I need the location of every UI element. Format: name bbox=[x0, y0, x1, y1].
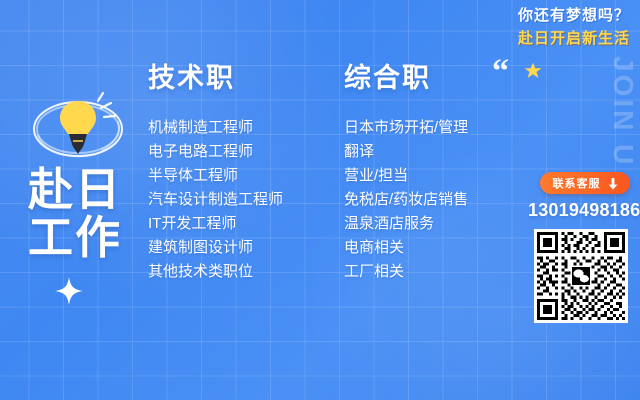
contact-support-label: 联系客服 bbox=[553, 175, 601, 191]
list-item[interactable]: 电商相关 bbox=[344, 236, 534, 260]
brand-title-line2: 工作 bbox=[28, 214, 158, 262]
list-item[interactable]: 半导体工程师 bbox=[148, 164, 328, 188]
list-item[interactable]: 电子电路工程师 bbox=[148, 140, 328, 164]
sparkle-icon bbox=[54, 276, 84, 306]
arrow-down-icon bbox=[608, 177, 618, 189]
job-column-general: 综合职 日本市场开拓/管理 翻译 营业/担当 免税店/药妆店销售 温泉酒店服务 … bbox=[344, 62, 534, 284]
job-column-title: 技术职 bbox=[148, 62, 328, 94]
list-item[interactable]: 工厂相关 bbox=[344, 260, 534, 284]
join-us-watermark: JOIN U bbox=[608, 56, 638, 167]
list-item[interactable]: 免税店/药妆店销售 bbox=[344, 188, 534, 212]
job-list: 日本市场开拓/管理 翻译 营业/担当 免税店/药妆店销售 温泉酒店服务 电商相关… bbox=[344, 116, 534, 284]
headline-line1: 你还有梦想吗？ bbox=[518, 6, 630, 26]
list-item[interactable]: 翻译 bbox=[344, 140, 534, 164]
job-column-technical: 技术职 机械制造工程师 电子电路工程师 半导体工程师 汽车设计制造工程师 IT开… bbox=[148, 62, 328, 284]
list-item[interactable]: 营业/担当 bbox=[344, 164, 534, 188]
brand-title: 赴日 工作 bbox=[28, 166, 158, 262]
list-item[interactable]: 汽车设计制造工程师 bbox=[148, 188, 328, 212]
contact-phone-number[interactable]: 13019498186 bbox=[528, 200, 640, 221]
quote-mark-icon: “ bbox=[492, 60, 509, 84]
headline: 你还有梦想吗？ 赴日开启新生活 bbox=[518, 6, 630, 49]
list-item[interactable]: 其他技术类职位 bbox=[148, 260, 328, 284]
list-item[interactable]: 机械制造工程师 bbox=[148, 116, 328, 140]
list-item[interactable]: 温泉酒店服务 bbox=[344, 212, 534, 236]
lightbulb-icon bbox=[26, 84, 130, 172]
list-item[interactable]: 建筑制图设计师 bbox=[148, 236, 328, 260]
wechat-qr-code[interactable] bbox=[534, 229, 628, 323]
headline-line2: 赴日开启新生活 bbox=[518, 29, 630, 49]
contact-support-button[interactable]: 联系客服 bbox=[540, 172, 630, 194]
star-icon bbox=[524, 62, 542, 80]
job-list: 机械制造工程师 电子电路工程师 半导体工程师 汽车设计制造工程师 IT开发工程师… bbox=[148, 116, 328, 284]
list-item[interactable]: 日本市场开拓/管理 bbox=[344, 116, 534, 140]
brand-title-line1: 赴日 bbox=[28, 166, 158, 214]
poster-root: 赴日 工作 技术职 机械制造工程师 电子电路工程师 半导体工程师 汽车设计制造工… bbox=[0, 0, 640, 400]
list-item[interactable]: IT开发工程师 bbox=[148, 212, 328, 236]
